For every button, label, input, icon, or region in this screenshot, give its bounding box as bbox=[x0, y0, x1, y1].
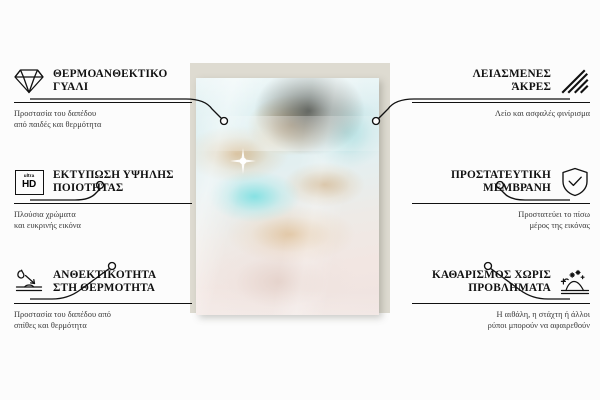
easy-cleaning-icon bbox=[560, 267, 590, 297]
feature-heat-resistant-glass[interactable]: ΘΕΡΜΟΑΝΘΕΚΤΙΚΟ ΓΥΑΛΙ Προστασία του δαπέδ… bbox=[14, 64, 192, 130]
feature-heat-durability[interactable]: ΑΝΘΕΚΤΙΚΟΤΗΤΑ ΣΤΗ ΘΕΡΜΟΤΗΤΑ Προστασία το… bbox=[14, 265, 192, 331]
feature-description: Προστασία του δαπέδου από σπίθες και θερ… bbox=[14, 309, 192, 331]
feature-description: Πλούσια χρώματα και ευκρινής εικόνα bbox=[14, 209, 192, 231]
feature-title: ΚΑΘΑΡΙΣΜΟΣ ΧΩΡΙΣ ΠΡΟΒΛΗΜΑΤΑ bbox=[432, 269, 551, 296]
feature-divider bbox=[412, 203, 590, 204]
feature-heading: ΑΝΘΕΚΤΙΚΟΤΗΤΑ ΣΤΗ ΘΕΡΜΟΤΗΤΑ bbox=[14, 265, 192, 299]
feature-divider bbox=[412, 102, 590, 103]
shield-check-icon bbox=[560, 167, 590, 197]
feature-heading: ΚΑΘΑΡΙΣΜΟΣ ΧΩΡΙΣ ΠΡΟΒΛΗΜΑΤΑ bbox=[412, 265, 590, 299]
feature-title: ΑΝΘΕΚΤΙΚΟΤΗΤΑ ΣΤΗ ΘΕΡΜΟΤΗΤΑ bbox=[53, 269, 156, 296]
infographic-stage: ΘΕΡΜΟΑΝΘΕΚΤΙΚΟ ΓΥΑΛΙ Προστασία του δαπέδ… bbox=[0, 0, 600, 400]
feature-divider bbox=[14, 203, 192, 204]
feature-description: Λείο και ασφαλές φινίρισμα bbox=[412, 108, 590, 119]
feature-heading: ΘΕΡΜΟΑΝΘΕΚΤΙΚΟ ΓΥΑΛΙ bbox=[14, 64, 192, 98]
diamond-icon bbox=[14, 66, 44, 96]
feature-heading: ΠΡΟΣΤΑΤΕΥΤΙΚΗ ΜΕΜΒΡΑΝΗ bbox=[412, 165, 590, 199]
feature-title: ΕΚΤΥΠΩΣΗ ΥΨΗΛΗΣ ΠΟΙΟΤΗΤΑΣ bbox=[53, 169, 174, 196]
feature-divider bbox=[412, 303, 590, 304]
feature-title: ΛΕΙΑΣΜΕΝΕΣ ΆΚΡΕΣ bbox=[473, 68, 551, 95]
heat-resistance-icon bbox=[14, 267, 44, 297]
ultra-hd-large-label: HD bbox=[22, 180, 36, 190]
feature-protective-membrane[interactable]: ΠΡΟΣΤΑΤΕΥΤΙΚΗ ΜΕΜΒΡΑΝΗ Προστατεύει το πί… bbox=[412, 165, 590, 231]
feature-description: Προστατεύει το πίσω μέρος της εικόνας bbox=[412, 209, 590, 231]
feature-title: ΘΕΡΜΟΑΝΘΕΚΤΙΚΟ ΓΥΑΛΙ bbox=[53, 68, 167, 95]
feature-high-quality-print[interactable]: ultra HD ΕΚΤΥΠΩΣΗ ΥΨΗΛΗΣ ΠΟΙΟΤΗΤΑΣ Πλούσ… bbox=[14, 165, 192, 231]
feature-heading: ultra HD ΕΚΤΥΠΩΣΗ ΥΨΗΛΗΣ ΠΟΙΟΤΗΤΑΣ bbox=[14, 165, 192, 199]
feature-polished-edges[interactable]: ΛΕΙΑΣΜΕΝΕΣ ΆΚΡΕΣ Λείο και ασφαλές φινίρι… bbox=[412, 64, 590, 119]
ultra-hd-icon: ultra HD bbox=[14, 167, 44, 197]
feature-description: Προστασία του δαπέδου από παιδές και θερ… bbox=[14, 108, 192, 130]
polished-edges-icon bbox=[560, 66, 590, 96]
feature-easy-cleaning[interactable]: ΚΑΘΑΡΙΣΜΟΣ ΧΩΡΙΣ ΠΡΟΒΛΗΜΑΤΑ Η αιθάλη, η … bbox=[412, 265, 590, 331]
feature-title: ΠΡΟΣΤΑΤΕΥΤΙΚΗ ΜΕΜΒΡΑΝΗ bbox=[451, 169, 551, 196]
feature-divider bbox=[14, 102, 192, 103]
feature-heading: ΛΕΙΑΣΜΕΝΕΣ ΆΚΡΕΣ bbox=[412, 64, 590, 98]
feature-divider bbox=[14, 303, 192, 304]
feature-description: Η αιθάλη, η στάχτη ή άλλοι ρύποι μπορούν… bbox=[412, 309, 590, 331]
